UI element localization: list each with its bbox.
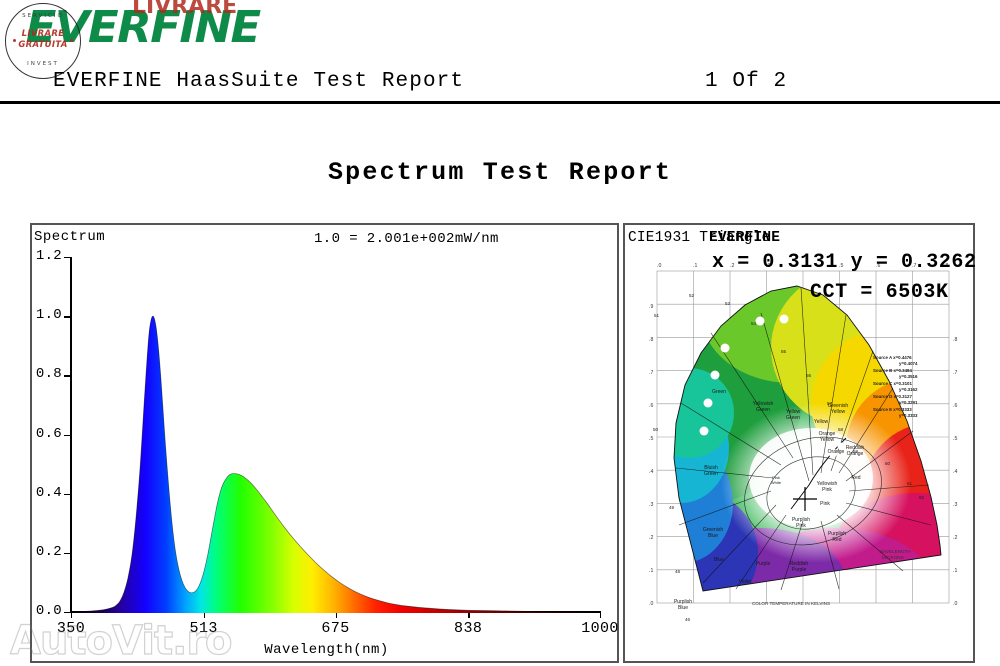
svg-text:.1: .1 [693, 263, 697, 269]
header-divider [0, 101, 1000, 104]
spectrum-y-tick-label: 0.2 [28, 544, 62, 560]
svg-text:.3: .3 [649, 502, 653, 508]
svg-text:.3: .3 [953, 502, 957, 508]
svg-text:Source C x=0.3101: Source C x=0.3101 [873, 381, 912, 386]
cie-diagram-panel: CIE1931 Triangle EVERFINE x = 0.3131 y =… [623, 223, 975, 663]
svg-text:.5: .5 [649, 436, 653, 442]
svg-text:48: 48 [675, 569, 681, 574]
svg-text:.4: .4 [649, 469, 653, 475]
svg-text:.1: .1 [953, 568, 957, 574]
svg-text:49: 49 [669, 505, 675, 510]
svg-text:61: 61 [907, 481, 913, 486]
page-title: Spectrum Test Report [0, 158, 1000, 187]
page-indicator: 1 Of 2 [705, 70, 787, 93]
svg-text:.7: .7 [953, 370, 957, 376]
svg-text:Yellow: Yellow [814, 419, 829, 425]
svg-text:Green: Green [756, 407, 770, 413]
spectrum-y-tick [64, 612, 71, 613]
svg-text:.0: .0 [649, 601, 653, 607]
spectrum-y-tick [64, 257, 71, 258]
spectrum-y-tick [64, 494, 71, 495]
svg-text:Pink: Pink [796, 523, 806, 529]
spectrum-curve [71, 257, 601, 613]
stamp-line1: LIVRARE [6, 29, 80, 39]
svg-text:Yellow: Yellow [820, 437, 835, 443]
stamp-line2: GRATUITA [6, 40, 80, 50]
svg-text:y=0.3291: y=0.3291 [899, 400, 918, 405]
cie-panel-brand-overlay: EVERFINE [709, 230, 780, 246]
spectrum-x-axis-title: Wavelength(nm) [32, 642, 621, 658]
svg-text:Green: Green [712, 389, 726, 395]
svg-text:56: 56 [806, 373, 812, 378]
svg-text:.8: .8 [649, 337, 653, 343]
spectrum-y-tick-label: 0.6 [28, 426, 62, 442]
svg-text:y=0.3162: y=0.3162 [899, 387, 918, 392]
spectrum-y-tick-label: 0.8 [28, 366, 62, 382]
svg-text:53: 53 [725, 301, 731, 306]
livrare-gratuita-stamp: SERVICIO LIVRARE GRATUITA INVEST [5, 3, 81, 79]
spectrum-y-tick-label: 0.4 [28, 485, 62, 501]
spectrum-x-tick-label: 1000 [570, 620, 630, 637]
stamp-dot-left [13, 39, 16, 42]
svg-text:.8: .8 [953, 337, 957, 343]
svg-text:Blue: Blue [714, 557, 724, 563]
svg-text:Source A x=0.4476: Source A x=0.4476 [873, 355, 912, 360]
spectrum-y-tick [64, 553, 71, 554]
spectrum-x-tick-label: 675 [306, 620, 366, 637]
svg-text:Blue: Blue [708, 533, 718, 539]
spectrum-y-tick-label: 1.2 [28, 248, 62, 264]
cie-1931-chromaticity-diagram: Source A x=0.4476 y=0.4074 Source B x=0.… [641, 253, 971, 657]
chromaticity-xy-readout: x = 0.3131 y = 0.3262 [712, 251, 977, 274]
spectrum-y-tick [64, 435, 71, 436]
svg-text:y=0.4074: y=0.4074 [899, 361, 918, 366]
svg-text:Violet: Violet [739, 579, 752, 585]
spectrum-y-tick [64, 375, 71, 376]
svg-text:WAVELENGTH: WAVELENGTH [879, 549, 911, 554]
svg-text:58: 58 [838, 427, 844, 432]
svg-text:.2: .2 [953, 535, 957, 541]
stamp-arc-top-text: SERVICIO [6, 13, 80, 19]
svg-text:.9: .9 [649, 304, 653, 310]
stamp-dot-right [70, 39, 73, 42]
svg-text:Yellow: Yellow [831, 409, 846, 415]
spectrum-y-tick-label: 0.0 [28, 603, 62, 619]
svg-text:Source E x=0.3333: Source E x=0.3333 [873, 407, 912, 412]
svg-text:White: White [771, 480, 782, 485]
svg-text:54: 54 [751, 321, 757, 326]
spectrum-scale-note: 1.0 = 2.001e+002mW/nm [314, 231, 499, 247]
svg-text:.0: .0 [657, 263, 661, 269]
svg-text:MICRONS: MICRONS [882, 555, 904, 560]
spectrum-axis-caption: Spectrum [34, 229, 105, 245]
svg-text:Red: Red [851, 475, 860, 481]
svg-text:Purple: Purple [792, 567, 807, 573]
svg-text:y=0.3516: y=0.3516 [899, 374, 918, 379]
svg-text:.2: .2 [649, 535, 653, 541]
spectrum-x-tick-label: 838 [438, 620, 498, 637]
svg-text:Green: Green [704, 471, 718, 477]
svg-text:46: 46 [685, 617, 691, 622]
svg-text:.6: .6 [649, 403, 653, 409]
spectrum-y-tick-label: 1.0 [28, 307, 62, 323]
report-header-title: EVERFINE HaasSuite Test Report [53, 70, 464, 93]
spectrum-x-tick-label: 350 [41, 620, 101, 637]
svg-text:51: 51 [654, 313, 660, 318]
svg-text:55: 55 [781, 349, 787, 354]
svg-text:Red: Red [832, 537, 841, 543]
svg-text:.4: .4 [953, 469, 957, 475]
svg-text:.7: .7 [649, 370, 653, 376]
svg-text:60: 60 [885, 461, 891, 466]
svg-text:57: 57 [827, 401, 833, 406]
svg-text:.5: .5 [953, 436, 957, 442]
spectrum-y-tick [64, 316, 71, 317]
stamp-arc-bottom-text: INVEST [6, 61, 80, 67]
svg-text:50: 50 [653, 427, 659, 432]
svg-text:.0: .0 [953, 601, 957, 607]
svg-text:y=0.3333: y=0.3333 [899, 413, 918, 418]
svg-text:.6: .6 [953, 403, 957, 409]
svg-text:Source D x=0.3127: Source D x=0.3127 [873, 394, 912, 399]
cct-readout: CCT = 6503K [810, 281, 949, 304]
svg-text:.1: .1 [649, 568, 653, 574]
svg-text:Purple: Purple [756, 561, 771, 567]
svg-text:Pink: Pink [822, 487, 832, 493]
svg-text:Green: Green [786, 415, 800, 421]
spectrum-chart-panel: Spectrum 1.0 = 2.001e+002mW/nm 0.00.20.4… [30, 223, 619, 663]
svg-text:Blue: Blue [678, 605, 688, 611]
svg-text:COLOR TEMPERATURE IN KELVINS: COLOR TEMPERATURE IN KELVINS [752, 601, 830, 606]
top-watermark-fragment: LIVRARE [132, 0, 237, 19]
spectrum-x-tick-label: 513 [174, 620, 234, 637]
svg-text:Pink: Pink [820, 501, 830, 507]
svg-text:Source B x=0.3484: Source B x=0.3484 [873, 368, 912, 373]
svg-text:Orange: Orange [828, 449, 845, 455]
svg-text:59: 59 [853, 449, 859, 454]
svg-text:62: 62 [919, 495, 925, 500]
cie-gamut-fill [641, 253, 971, 657]
svg-text:52: 52 [689, 293, 695, 298]
